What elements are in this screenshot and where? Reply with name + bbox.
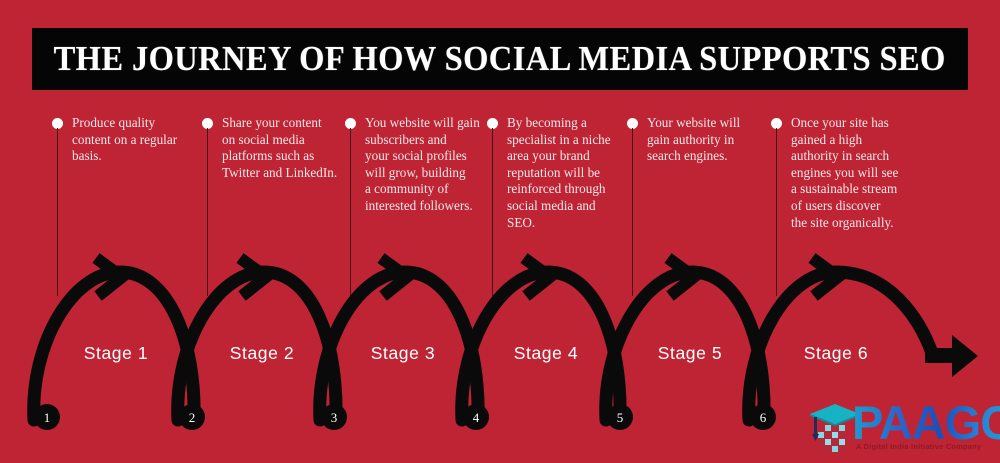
stage-node-number: 1 [44, 411, 51, 424]
stage-node-number: 5 [617, 411, 624, 424]
stage-node-number: 3 [331, 411, 338, 424]
stage-node-2[interactable]: 2 [179, 404, 205, 430]
paagc-logo[interactable]: PAAGC A Digital India Initiative Company [806, 398, 998, 460]
logo-tagline: A Digital India Initiative Company [856, 442, 981, 451]
stage-node-4[interactable]: 4 [463, 404, 489, 430]
stage-label-5: Stage 5 [658, 343, 723, 364]
stage-label-6: Stage 6 [804, 343, 869, 364]
stage-node-number: 2 [189, 411, 196, 424]
note-text-4: By becoming a specialist in a niche area… [507, 115, 640, 231]
note-text-2: Share your content on social media platf… [222, 115, 358, 181]
note-text-3: You website will gain subscribers and yo… [365, 115, 500, 215]
stage-node-6[interactable]: 6 [750, 404, 776, 430]
stage-node-5[interactable]: 5 [607, 404, 633, 430]
note-text-5: Your website will gain authority in sear… [647, 115, 779, 165]
stage-label-4: Stage 4 [514, 343, 579, 364]
note-text-6: Once your site has gained a high authori… [791, 115, 931, 231]
stage-label-2: Stage 2 [230, 343, 295, 364]
stage-node-number: 6 [760, 411, 767, 424]
stage-label-3: Stage 3 [371, 343, 436, 364]
page-title: THE JOURNEY OF HOW SOCIAL MEDIA SUPPORTS… [54, 39, 946, 79]
stage-node-number: 4 [473, 411, 480, 424]
title-bar: THE JOURNEY OF HOW SOCIAL MEDIA SUPPORTS… [32, 28, 968, 90]
stage-node-3[interactable]: 3 [321, 404, 347, 430]
stage-label-1: Stage 1 [84, 343, 149, 364]
stage-node-1[interactable]: 1 [34, 404, 60, 430]
infographic-canvas: THE JOURNEY OF HOW SOCIAL MEDIA SUPPORTS… [0, 0, 1000, 463]
note-text-1: Produce quality content on a regular bas… [72, 115, 212, 165]
